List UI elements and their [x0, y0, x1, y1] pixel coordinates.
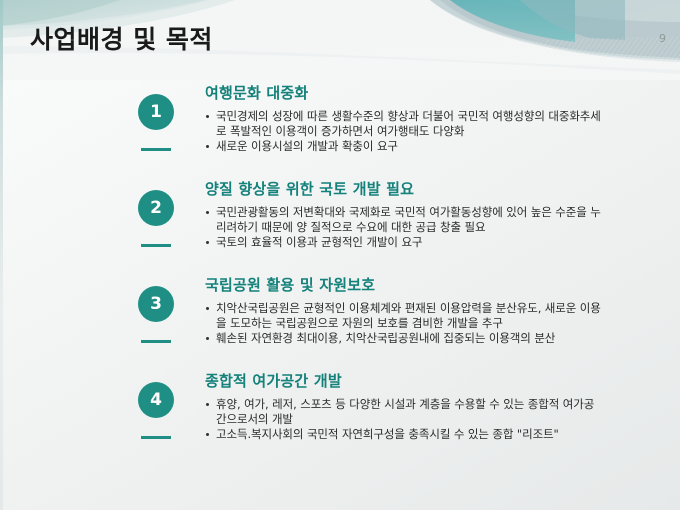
section-bullets-2: 국민관광활동의 저변확대와 국제화로 국민적 여가활동성향에 있어 높은 수준을…: [205, 205, 680, 250]
section-badge-3: 3: [138, 286, 174, 322]
section-divider-1: [141, 148, 171, 151]
page-title: 사업배경 및 목적: [30, 20, 213, 56]
section-divider-2: [141, 244, 171, 247]
section-marker-4: 4: [0, 368, 205, 464]
section-4: 4 종합적 여가공간 개발 휴양, 여가, 레저, 스포츠 등 다양한 시설과 …: [0, 368, 680, 464]
section-marker-1: 1: [0, 80, 205, 176]
section-divider-3: [141, 340, 171, 343]
bullet-item: 국토의 효율적 이용과 균형적인 개발이 요구: [205, 235, 601, 250]
bullet-item: 국민경제의 성장에 따른 생활수준의 향상과 더불어 국민적 여행성향의 대중화…: [205, 109, 601, 138]
section-body-1: 여행문화 대중화 국민경제의 성장에 따른 생활수준의 향상과 더불어 국민적 …: [205, 80, 680, 155]
section-body-2: 양질 향상을 위한 국토 개발 필요 국민관광활동의 저변확대와 국제화로 국민…: [205, 176, 680, 251]
presentation-slide: 사업배경 및 목적 9 1 여행문화 대중화 국민경제의 성장에 따른 생활수준…: [0, 0, 680, 510]
section-heading-3: 국립공원 활용 및 자원보호: [205, 274, 680, 295]
section-heading-2: 양질 향상을 위한 국토 개발 필요: [205, 178, 680, 199]
section-heading-1: 여행문화 대중화: [205, 82, 680, 103]
section-divider-4: [141, 436, 171, 439]
section-1: 1 여행문화 대중화 국민경제의 성장에 따른 생활수준의 향상과 더불어 국민…: [0, 80, 680, 176]
section-bullets-3: 치악산국립공원은 균형적인 이용체계와 편재된 이용압력을 분산유도, 새로운 …: [205, 301, 680, 346]
section-bullets-1: 국민경제의 성장에 따른 생활수준의 향상과 더불어 국민적 여행성향의 대중화…: [205, 109, 680, 154]
bullet-item: 훼손된 자연환경 최대이용, 치악산국립공원내에 집중되는 이용객의 분산: [205, 331, 601, 346]
bullet-item: 고소득.복지사회의 국민적 자연희구성을 충족시킬 수 있는 종합 "리조트": [205, 427, 601, 442]
section-3: 3 국립공원 활용 및 자원보호 치악산국립공원은 균형적인 이용체계와 편재된…: [0, 272, 680, 368]
section-marker-3: 3: [0, 272, 205, 368]
section-badge-1: 1: [138, 94, 174, 130]
section-heading-4: 종합적 여가공간 개발: [205, 370, 680, 391]
content-area: 1 여행문화 대중화 국민경제의 성장에 따른 생활수준의 향상과 더불어 국민…: [0, 80, 680, 464]
section-badge-4: 4: [138, 382, 174, 418]
section-2: 2 양질 향상을 위한 국토 개발 필요 국민관광활동의 저변확대와 국제화로 …: [0, 176, 680, 272]
bullet-item: 휴양, 여가, 레저, 스포츠 등 다양한 시설과 계층을 수용할 수 있는 종…: [205, 397, 601, 426]
section-body-3: 국립공원 활용 및 자원보호 치악산국립공원은 균형적인 이용체계와 편재된 이…: [205, 272, 680, 347]
section-marker-2: 2: [0, 176, 205, 272]
section-badge-2: 2: [138, 190, 174, 226]
section-body-4: 종합적 여가공간 개발 휴양, 여가, 레저, 스포츠 등 다양한 시설과 계층…: [205, 368, 680, 443]
bullet-item: 국민관광활동의 저변확대와 국제화로 국민적 여가활동성향에 있어 높은 수준을…: [205, 205, 601, 234]
section-bullets-4: 휴양, 여가, 레저, 스포츠 등 다양한 시설과 계층을 수용할 수 있는 종…: [205, 397, 680, 442]
bullet-item: 새로운 이용시설의 개발과 확충이 요구: [205, 139, 601, 154]
bullet-item: 치악산국립공원은 균형적인 이용체계와 편재된 이용압력을 분산유도, 새로운 …: [205, 301, 601, 330]
page-number: 9: [659, 32, 666, 45]
